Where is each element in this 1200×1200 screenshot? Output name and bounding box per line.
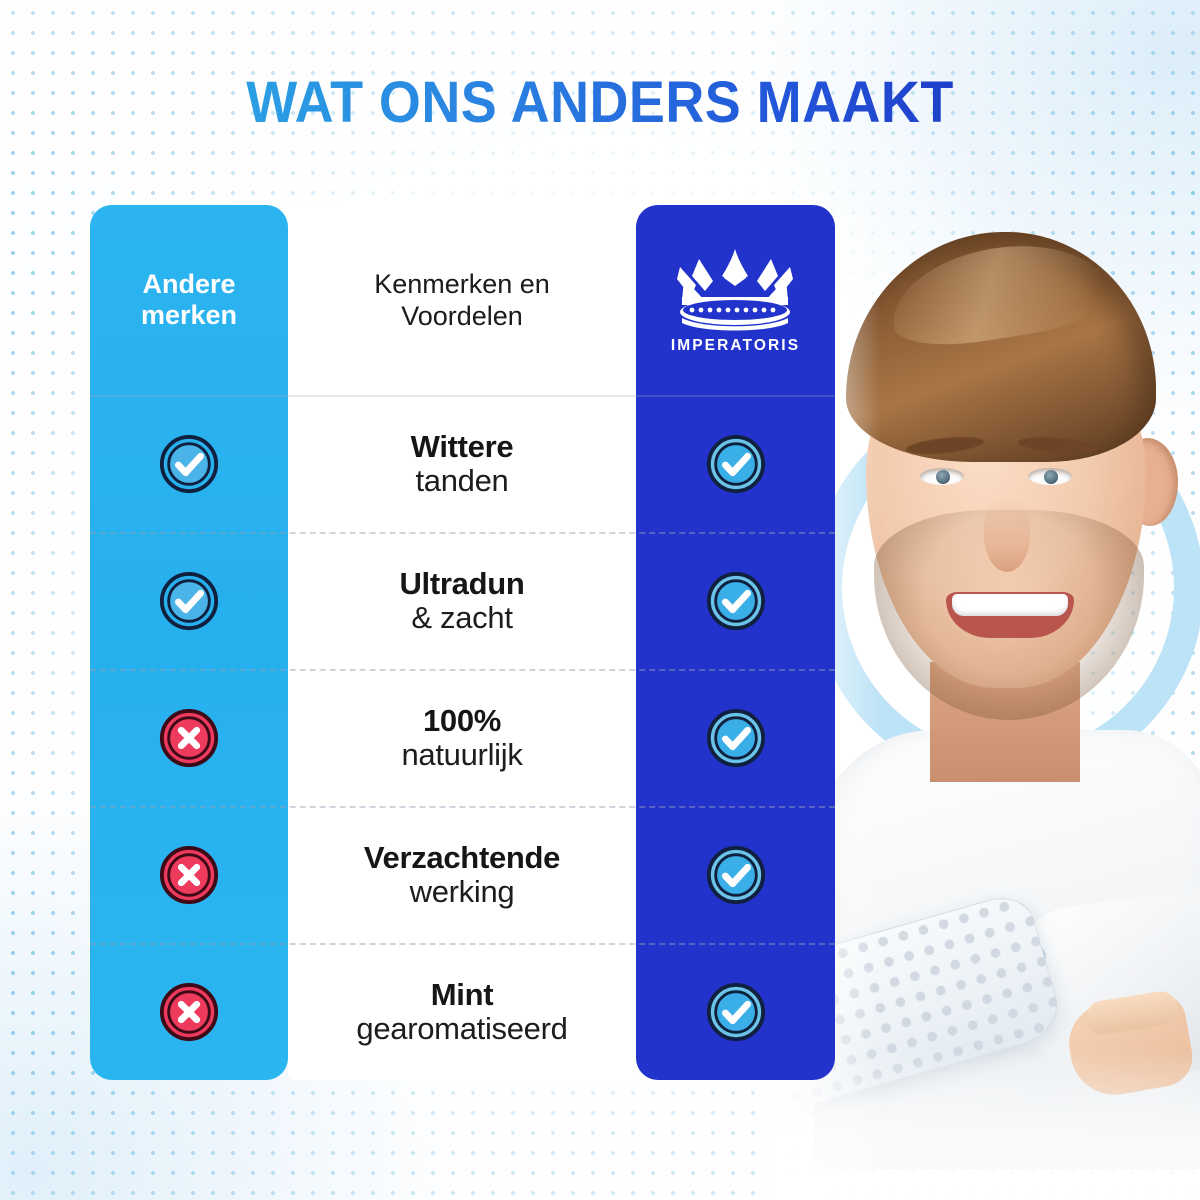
check-icon xyxy=(705,707,767,769)
table-row: Ultradun & zacht xyxy=(90,532,835,669)
check-icon xyxy=(158,433,220,495)
header-features-line1: Kenmerken en xyxy=(374,269,550,299)
cell-feature-text: Verzachtende werking xyxy=(288,806,636,943)
feature-line1: Wittere xyxy=(411,430,514,463)
cell-imperatoris-status xyxy=(636,943,835,1080)
cell-imperatoris-status xyxy=(636,532,835,669)
check-icon xyxy=(705,844,767,906)
cell-other-brands-status xyxy=(90,669,288,806)
feature-line2: werking xyxy=(364,875,560,908)
feature-line1: Mint xyxy=(356,978,567,1011)
photo-nose xyxy=(984,498,1030,572)
check-icon xyxy=(705,570,767,632)
comparison-table: Andere merken Kenmerken en Voordelen xyxy=(90,205,835,1080)
cell-feature-text: Ultradun & zacht xyxy=(288,532,636,669)
cell-feature-text: Mint gearomatiseerd xyxy=(288,943,636,1080)
header-cell-imperatoris: IMPERATORIS xyxy=(636,205,835,395)
table-row: Wittere tanden xyxy=(90,395,835,532)
feature-line2: tanden xyxy=(411,464,514,497)
feature-line1: Ultradun xyxy=(399,567,524,600)
header-separator xyxy=(90,395,835,397)
brand-name-label: IMPERATORIS xyxy=(671,337,800,355)
check-icon xyxy=(158,570,220,632)
cross-icon xyxy=(158,844,220,906)
feature-line1: Verzachtende xyxy=(364,841,560,874)
table-header-row: Andere merken Kenmerken en Voordelen xyxy=(90,205,835,395)
cell-other-brands-status xyxy=(90,395,288,532)
feature-line2: & zacht xyxy=(399,601,524,634)
header-features-line2: Voordelen xyxy=(401,301,523,331)
cell-other-brands-status xyxy=(90,806,288,943)
cell-imperatoris-status xyxy=(636,669,835,806)
header-other-brands-line1: Andere xyxy=(142,269,235,299)
cross-icon xyxy=(158,981,220,1043)
feature-line2: gearomatiseerd xyxy=(356,1012,567,1045)
table-row: Verzachtende werking xyxy=(90,806,835,943)
row-separator xyxy=(90,943,835,945)
cell-imperatoris-status xyxy=(636,395,835,532)
table-row: Mint gearomatiseerd xyxy=(90,943,835,1080)
row-separator xyxy=(90,806,835,808)
header-cell-other-brands: Andere merken xyxy=(90,205,288,395)
check-icon xyxy=(705,981,767,1043)
cell-other-brands-status xyxy=(90,532,288,669)
header-other-brands-line2: merken xyxy=(141,300,237,330)
feature-line2: natuurlijk xyxy=(401,738,522,771)
cross-icon xyxy=(158,707,220,769)
row-separator xyxy=(90,669,835,671)
row-separator xyxy=(90,532,835,534)
crown-icon xyxy=(672,245,798,331)
table-row: 100% natuurlijk xyxy=(90,669,835,806)
page-title: WAT ONS ANDERS MAAKT xyxy=(42,74,1158,132)
cell-other-brands-status xyxy=(90,943,288,1080)
photo-teeth xyxy=(952,594,1068,616)
header-cell-features: Kenmerken en Voordelen xyxy=(288,205,636,395)
check-icon xyxy=(705,433,767,495)
cell-imperatoris-status xyxy=(636,806,835,943)
photo-mouth xyxy=(946,592,1074,638)
photo-pupil-right xyxy=(1044,470,1058,484)
cell-feature-text: 100% natuurlijk xyxy=(288,669,636,806)
feature-line1: 100% xyxy=(401,704,522,737)
photo-pupil-left xyxy=(936,470,950,484)
cell-feature-text: Wittere tanden xyxy=(288,395,636,532)
